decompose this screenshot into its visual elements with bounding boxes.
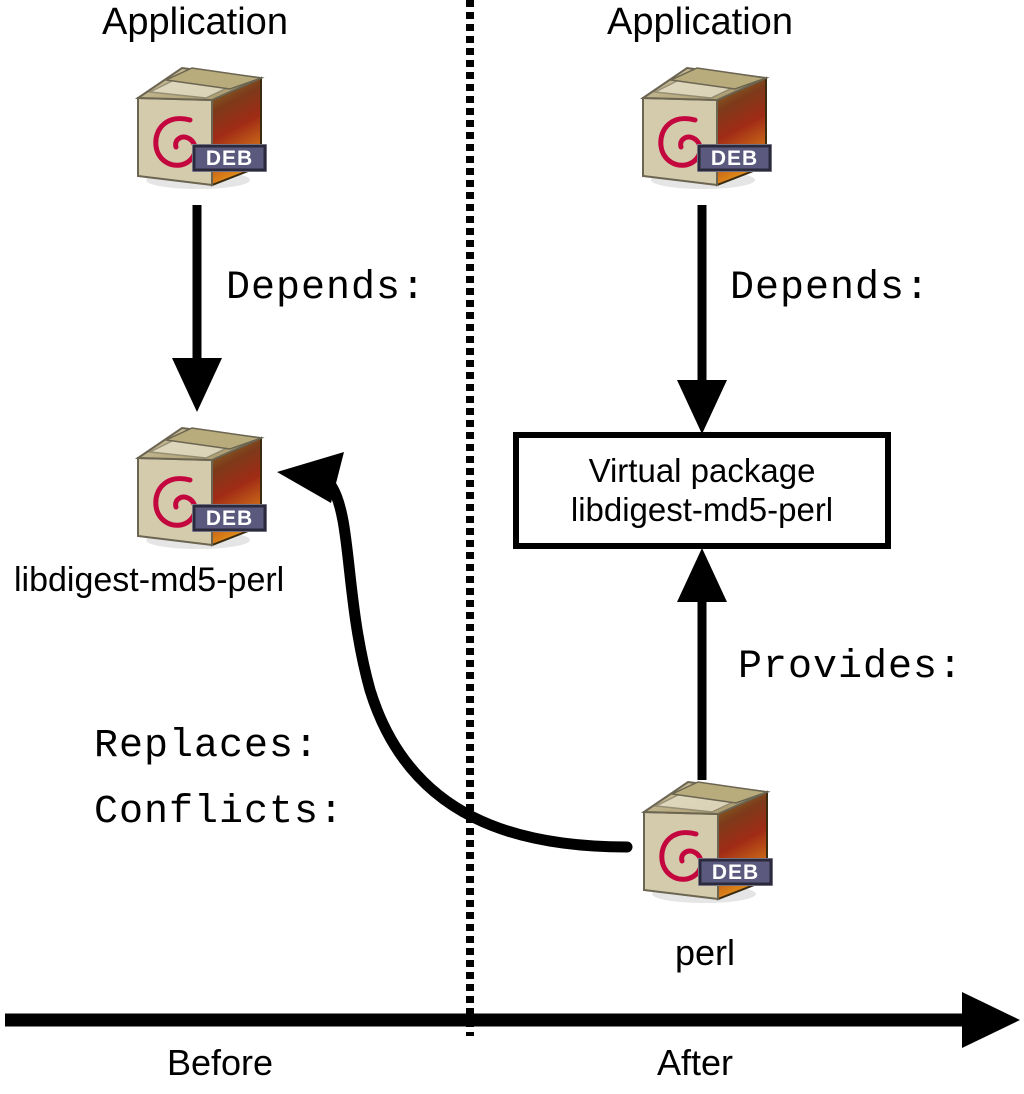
before-dependency-package-icon: DEB [120, 418, 272, 553]
before-dependency-label: libdigest-md5-perl [14, 562, 284, 599]
after-application-package-icon: DEB [625, 58, 777, 193]
deb-badge: DEB [192, 504, 267, 532]
before-application-package-icon: DEB [120, 58, 272, 193]
after-provider-label: perl [560, 934, 850, 973]
provides-label: Provides: [738, 645, 963, 690]
virtual-package-line-1: Virtual package [571, 452, 833, 491]
virtual-package-box: Virtual package libdigest-md5-perl [513, 432, 891, 549]
timeline-after-label: After [545, 1044, 845, 1083]
deb-badge: DEB [697, 144, 772, 172]
after-depends-label: Depends: [730, 266, 930, 311]
replaces-label: Replaces: [94, 724, 319, 769]
deb-badge: DEB [192, 144, 267, 172]
conflicts-label: Conflicts: [94, 790, 344, 835]
svg-text:DEB: DEB [206, 507, 253, 530]
diagram-canvas: Application Application [0, 0, 1024, 1094]
timeline-axis-arrow-icon [5, 992, 1020, 1048]
deb-badge: DEB [698, 858, 773, 886]
after-depends-arrow-icon [677, 205, 727, 434]
virtual-package-line-2: libdigest-md5-perl [571, 491, 833, 530]
svg-text:DEB: DEB [206, 147, 253, 170]
before-application-title: Application [0, 2, 390, 43]
dotted-vertical-divider-icon [466, 0, 474, 1036]
provides-arrow-icon [677, 548, 727, 780]
before-depends-label: Depends: [226, 266, 426, 311]
before-depends-arrow-icon [172, 205, 222, 412]
after-application-title: Application [505, 2, 895, 43]
svg-text:DEB: DEB [711, 147, 758, 170]
timeline-before-label: Before [70, 1044, 370, 1083]
svg-text:DEB: DEB [712, 861, 759, 884]
after-provider-package-icon: DEB [626, 772, 778, 907]
